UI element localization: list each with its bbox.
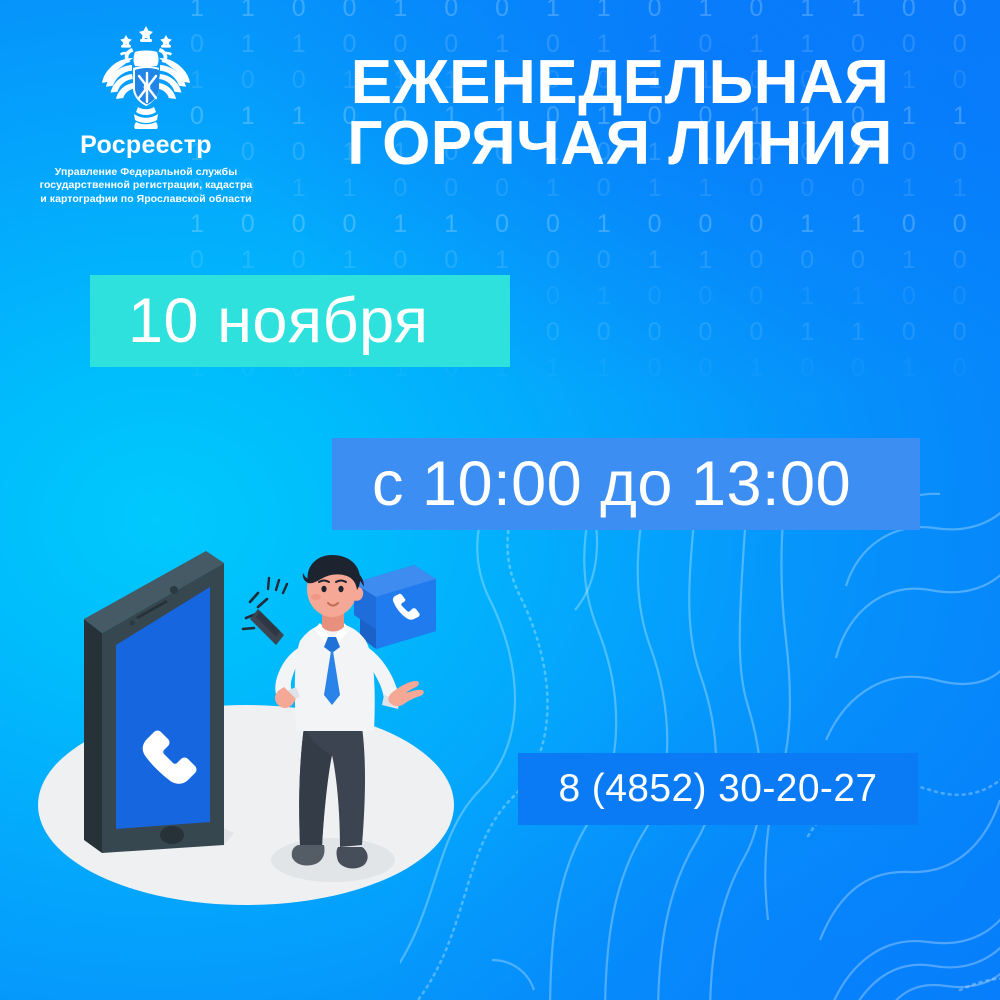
logo-subtitle-line-2: государственной регистрации, кадастра: [30, 179, 262, 193]
logo-wordmark: Росреестр: [30, 132, 262, 160]
binary-row: 1 1 0 1 0 0 1 0 1 0 1 1 0 0 1 1 0 1 0 1 …: [190, 386, 1000, 422]
left-eye: [321, 586, 326, 592]
time-badge-label: с 10:00 до 13:00: [372, 448, 851, 520]
smartphone-with-handset-icon: [84, 551, 224, 853]
binary-row: 1 0 0 0 1 1 0 0 1 0 0 0 1 1 0 0 0 1 1 0 …: [190, 206, 1000, 242]
right-eye: [338, 586, 343, 592]
phone-number-label: 8 (4852) 30-20-27: [558, 767, 877, 811]
date-badge: 10 ноября: [90, 275, 510, 367]
poster-canvas: 1 1 0 0 1 0 0 1 1 0 1 0 1 1 0 0 1 0 0 1 …: [0, 0, 1000, 1000]
phone-number-badge: 8 (4852) 30-20-27: [518, 753, 918, 825]
headline-line-1: ЕЖЕНЕДЕЛЬНАЯ: [270, 52, 970, 113]
logo-subtitle-line-3: и картографии по Ярославской области: [30, 193, 262, 207]
chat-bubble-phone-icon: [354, 565, 436, 649]
logo-subtitle-line-1: Управление Федеральной службы: [30, 166, 262, 180]
binary-row: 1 0 1 1 0 0 1 0 1 1 0 1 1 1 0 1 0 0 0 1 …: [190, 422, 1000, 430]
date-badge-label: 10 ноября: [128, 285, 429, 357]
headline: ЕЖЕНЕДЕЛЬНАЯ ГОРЯЧАЯ ЛИНИЯ: [270, 52, 970, 175]
logo-subtitle: Управление Федеральной службы государств…: [30, 166, 262, 208]
hotline-illustration: [28, 545, 498, 925]
binary-row: 1 1 0 0 1 0 0 1 1 0 1 0 1 1 0 0 1 0 0 1 …: [190, 0, 1000, 26]
binary-row: 0 1 0 1 0 0 1 0 0 1 1 0 0 0 1 0 1 1 0 0 …: [190, 242, 1000, 278]
time-badge: с 10:00 до 13:00: [332, 438, 920, 530]
double-headed-eagle-icon: [88, 24, 204, 130]
headline-line-2: ГОРЯЧАЯ ЛИНИЯ: [270, 113, 970, 174]
person-shadow: [271, 838, 395, 882]
rosreestr-logo: Росреестр Управление Федеральной службы …: [30, 24, 262, 207]
